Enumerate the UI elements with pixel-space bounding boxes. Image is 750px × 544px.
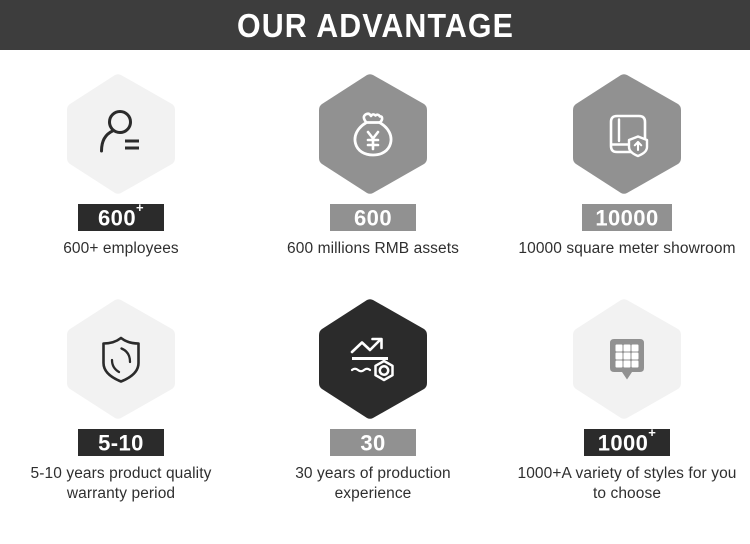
item-caption: 30 years of production experience xyxy=(257,464,489,505)
advantage-item-production: 30 30 years of production experience xyxy=(242,278,504,508)
advantage-item-styles: 1000+ 1000+A variety of styles for you t… xyxy=(504,278,750,508)
value-badge: 600+ xyxy=(78,204,164,231)
badge-value: 10000 xyxy=(595,205,658,230)
item-caption: 5-10 years product quality warranty peri… xyxy=(5,464,237,505)
value-badge: 5-10 xyxy=(78,429,164,456)
hexagon-badge-employees xyxy=(65,73,177,195)
badge-value: 30 xyxy=(360,430,385,455)
hexagon-badge-production xyxy=(317,298,429,420)
header-banner: OUR ADVANTAGE xyxy=(0,0,750,50)
advantage-item-employees: 600+ 600+ employees xyxy=(0,50,242,278)
hexagon-badge-showroom xyxy=(571,73,683,195)
advantage-item-warranty: 5-10 5-10 years product quality warranty… xyxy=(0,278,242,508)
advantage-item-showroom: 10000 10000 square meter showroom xyxy=(504,50,750,278)
badge-value: 1000 xyxy=(598,430,649,455)
badge-value: 600 xyxy=(354,205,392,230)
shield-quality-icon xyxy=(92,330,150,388)
badge-value: 5-10 xyxy=(98,430,144,455)
value-badge: 1000+ xyxy=(584,429,670,456)
value-badge: 600 xyxy=(330,204,416,231)
badge-suffix: + xyxy=(648,425,656,440)
advantage-grid: 600+ 600+ employees 600 xyxy=(0,50,750,544)
value-badge: 10000 xyxy=(582,204,671,231)
money-bag-icon xyxy=(344,105,402,163)
page-title: OUR ADVANTAGE xyxy=(237,9,514,42)
advantage-infographic: OUR ADVANTAGE 600+ 600+ emplo xyxy=(0,0,750,544)
advantage-item-assets: 600 600 millions RMB assets xyxy=(242,50,504,278)
item-caption: 10000 square meter showroom xyxy=(511,239,743,259)
item-caption: 600 millions RMB assets xyxy=(257,239,489,259)
badge-suffix: + xyxy=(136,200,144,215)
value-badge: 30 xyxy=(330,429,416,456)
badge-value: 600 xyxy=(98,205,136,230)
person-icon xyxy=(92,105,150,163)
growth-chart-gear-icon xyxy=(344,330,402,388)
hexagon-badge-warranty xyxy=(65,298,177,420)
showroom-shield-icon xyxy=(598,105,656,163)
styles-grid-bubble-icon xyxy=(598,330,656,388)
hexagon-badge-styles xyxy=(571,298,683,420)
item-caption: 600+ employees xyxy=(5,239,237,259)
hexagon-badge-assets xyxy=(317,73,429,195)
item-caption: 1000+A variety of styles for you to choo… xyxy=(511,464,743,505)
